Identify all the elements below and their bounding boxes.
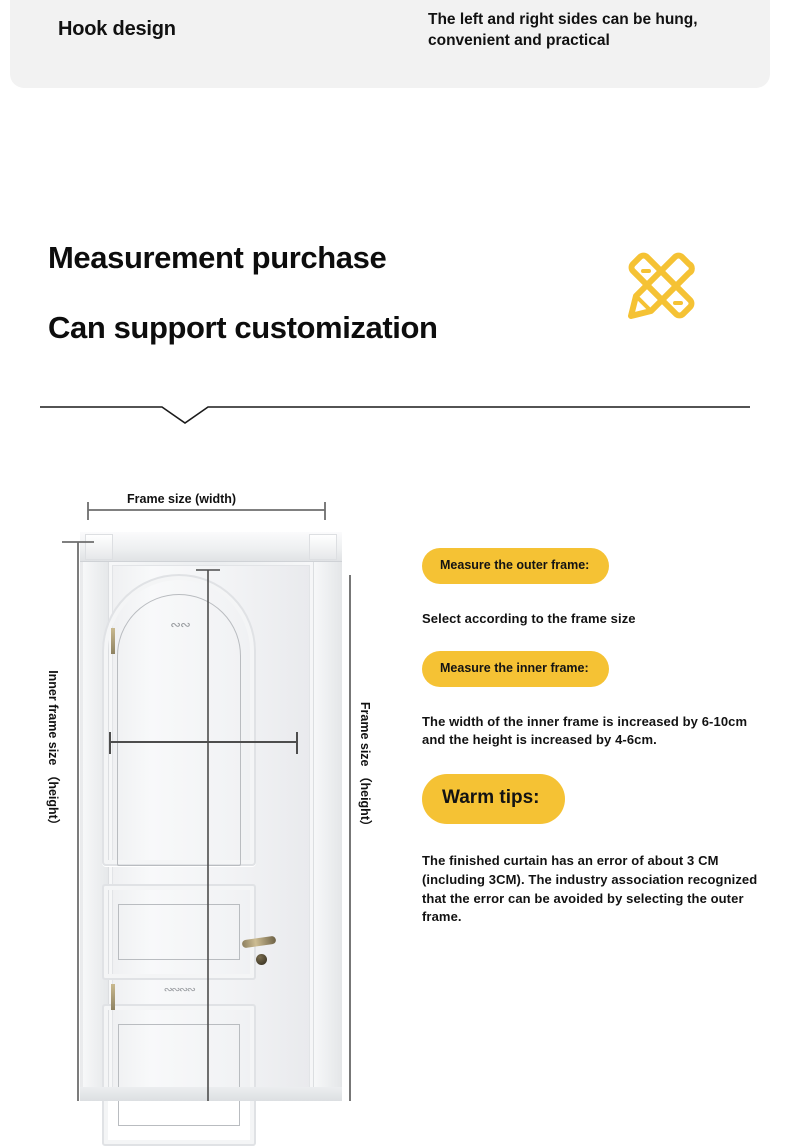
spacer — [422, 584, 762, 610]
door-jamb-right — [313, 562, 339, 1101]
door-head-block-left — [85, 534, 113, 560]
pill-measure-inner-frame: Measure the inner frame: — [422, 651, 609, 687]
door-scroll-ornament-band: ∾∾∾∾ — [122, 984, 236, 997]
spacer — [422, 824, 762, 852]
door-panel-middle-inner — [118, 904, 240, 960]
section-headline-secondary: Can support customization — [48, 310, 438, 346]
door-panel-bottom-inner — [118, 1024, 240, 1126]
text-measure-outer-frame: Select according to the frame size — [422, 610, 762, 629]
text-warm-tips: The finished curtain has an error of abo… — [422, 852, 762, 927]
instructions-column: Measure the outer frame: Select accordin… — [422, 548, 762, 927]
label-frame-width: Frame size (width) — [127, 492, 236, 506]
text-measure-inner-frame: The width of the inner frame is increase… — [422, 713, 762, 751]
door-illustration: ∾∾ ∾∾∾∾ — [80, 532, 342, 1101]
banner-subtitle: The left and right sides can be hung, co… — [428, 10, 768, 52]
spacer — [422, 629, 762, 651]
pill-measure-outer-frame: Measure the outer frame: — [422, 548, 609, 584]
door-head-block-right — [309, 534, 337, 560]
crossed-pencil-ruler-icon — [616, 240, 706, 330]
pill-warm-tips: Warm tips: — [422, 774, 565, 824]
spacer — [422, 687, 762, 713]
label-inner-frame-height: Inner frame size （height） — [46, 670, 60, 830]
door-hinge-bottom — [111, 984, 115, 1010]
door-arch-panel-inner — [117, 594, 241, 866]
dimension-frame-width — [88, 502, 325, 520]
door-threshold — [80, 1087, 342, 1101]
section-headline-primary: Measurement purchase — [48, 240, 386, 276]
spacer — [422, 750, 762, 774]
label-frame-height: Frame size （height） — [358, 687, 372, 847]
door-head-casing — [80, 532, 342, 562]
door-scroll-ornament-top: ∾∾ — [156, 618, 204, 632]
section-divider — [40, 398, 750, 428]
door-lock-knob — [256, 954, 267, 965]
door-hinge-top — [111, 628, 115, 654]
door-measurement-diagram: ∾∾ ∾∾∾∾ — [0, 460, 400, 1101]
banner-title: Hook design — [58, 18, 176, 41]
top-banner: Hook design The left and right sides can… — [10, 0, 770, 88]
